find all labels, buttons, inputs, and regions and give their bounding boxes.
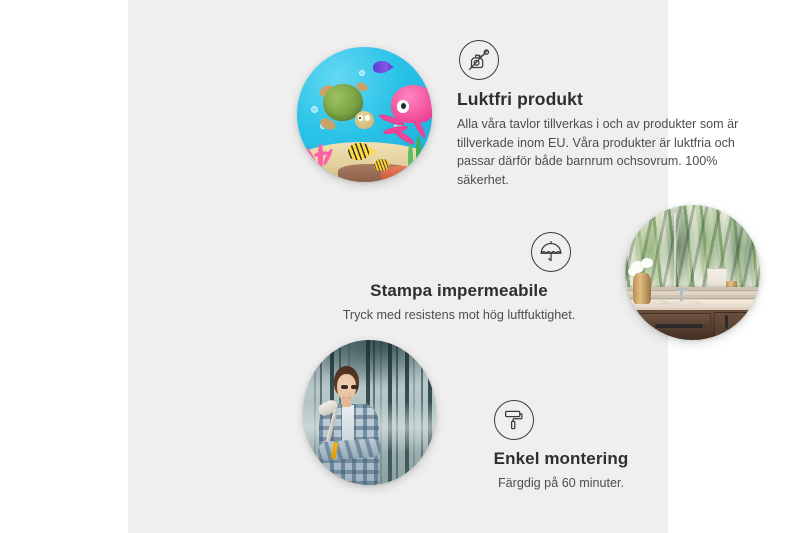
mirror-edge: [674, 213, 676, 291]
octopus-illustration: [378, 85, 432, 147]
bathroom-illustration: [625, 205, 760, 340]
feature-odourless: Luktfri produkt Alla våra tavlor tillver…: [457, 40, 759, 190]
feature-body: Tryck med resistens mot hög luftfuktighe…: [328, 306, 590, 325]
feature-title: Stampa impermeabile: [328, 281, 590, 301]
wood-vanity-cabinet: [630, 310, 760, 340]
soap-dish: [652, 300, 668, 305]
no-odour-spray-icon: [459, 40, 499, 80]
fish-illustration: [373, 61, 391, 73]
seagrass-icon: [408, 144, 413, 171]
woman-figure: [311, 366, 393, 485]
feature-mounting: Enkel montering Färgdig på 60 minuter.: [446, 400, 676, 493]
paint-roller-icon: [494, 400, 534, 440]
photo-woman-with-roller: [303, 340, 436, 485]
bubble-icon: [359, 70, 365, 76]
umbrella-icon: [531, 232, 571, 272]
screenshot-root: Luktfri produkt Alla våra tavlor tillver…: [0, 0, 800, 533]
feature-body: Färgdig på 60 minuter.: [446, 474, 676, 493]
feature-title: Luktfri produkt: [457, 89, 759, 110]
feature-waterproof: Stampa impermeabile Tryck med resistens …: [328, 232, 590, 325]
gold-vase: [633, 273, 651, 304]
turtle-illustration: [319, 82, 376, 131]
coral-illustration: [304, 133, 339, 168]
bubble-icon: [311, 106, 318, 113]
feature-title: Enkel montering: [446, 449, 676, 469]
content-panel: Luktfri produkt Alla våra tavlor tillver…: [128, 0, 668, 533]
woman-forest-illustration: [303, 340, 436, 485]
underwater-illustration: [297, 47, 432, 182]
feature-body: Alla våra tavlor tillverkas i och av pro…: [457, 115, 759, 190]
photo-underwater-scene: [297, 47, 432, 182]
photo-bathroom-interior: [625, 205, 760, 340]
